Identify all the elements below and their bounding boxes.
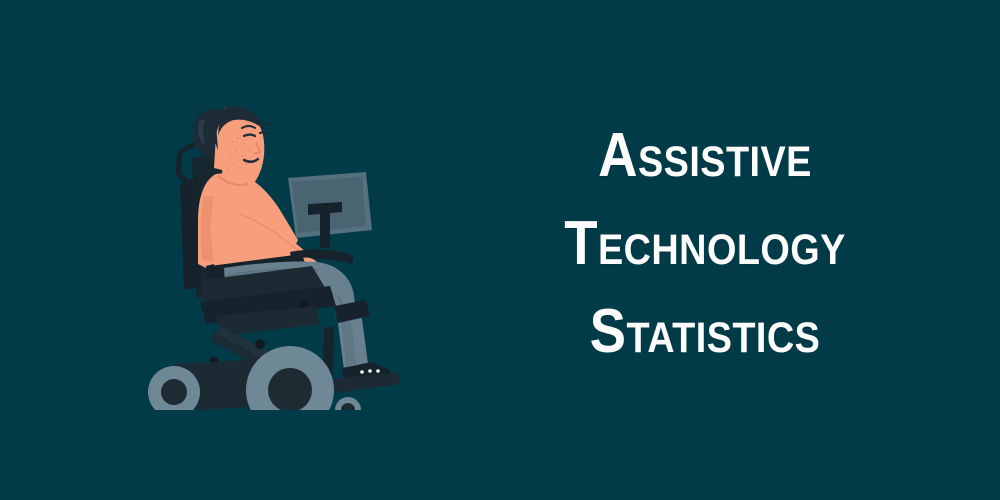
page-title: Assistive Technology Statistics (470, 112, 940, 376)
title-line-3: Statistics (498, 288, 912, 376)
person-in-powered-wheelchair-illustration (140, 80, 410, 410)
poster-canvas: Assistive Technology Statistics (0, 0, 1000, 500)
title-line-2: Technology (498, 200, 912, 288)
rear-caster (335, 397, 361, 410)
title-line-1: Assistive (498, 112, 912, 200)
tablet-screen (288, 172, 372, 248)
